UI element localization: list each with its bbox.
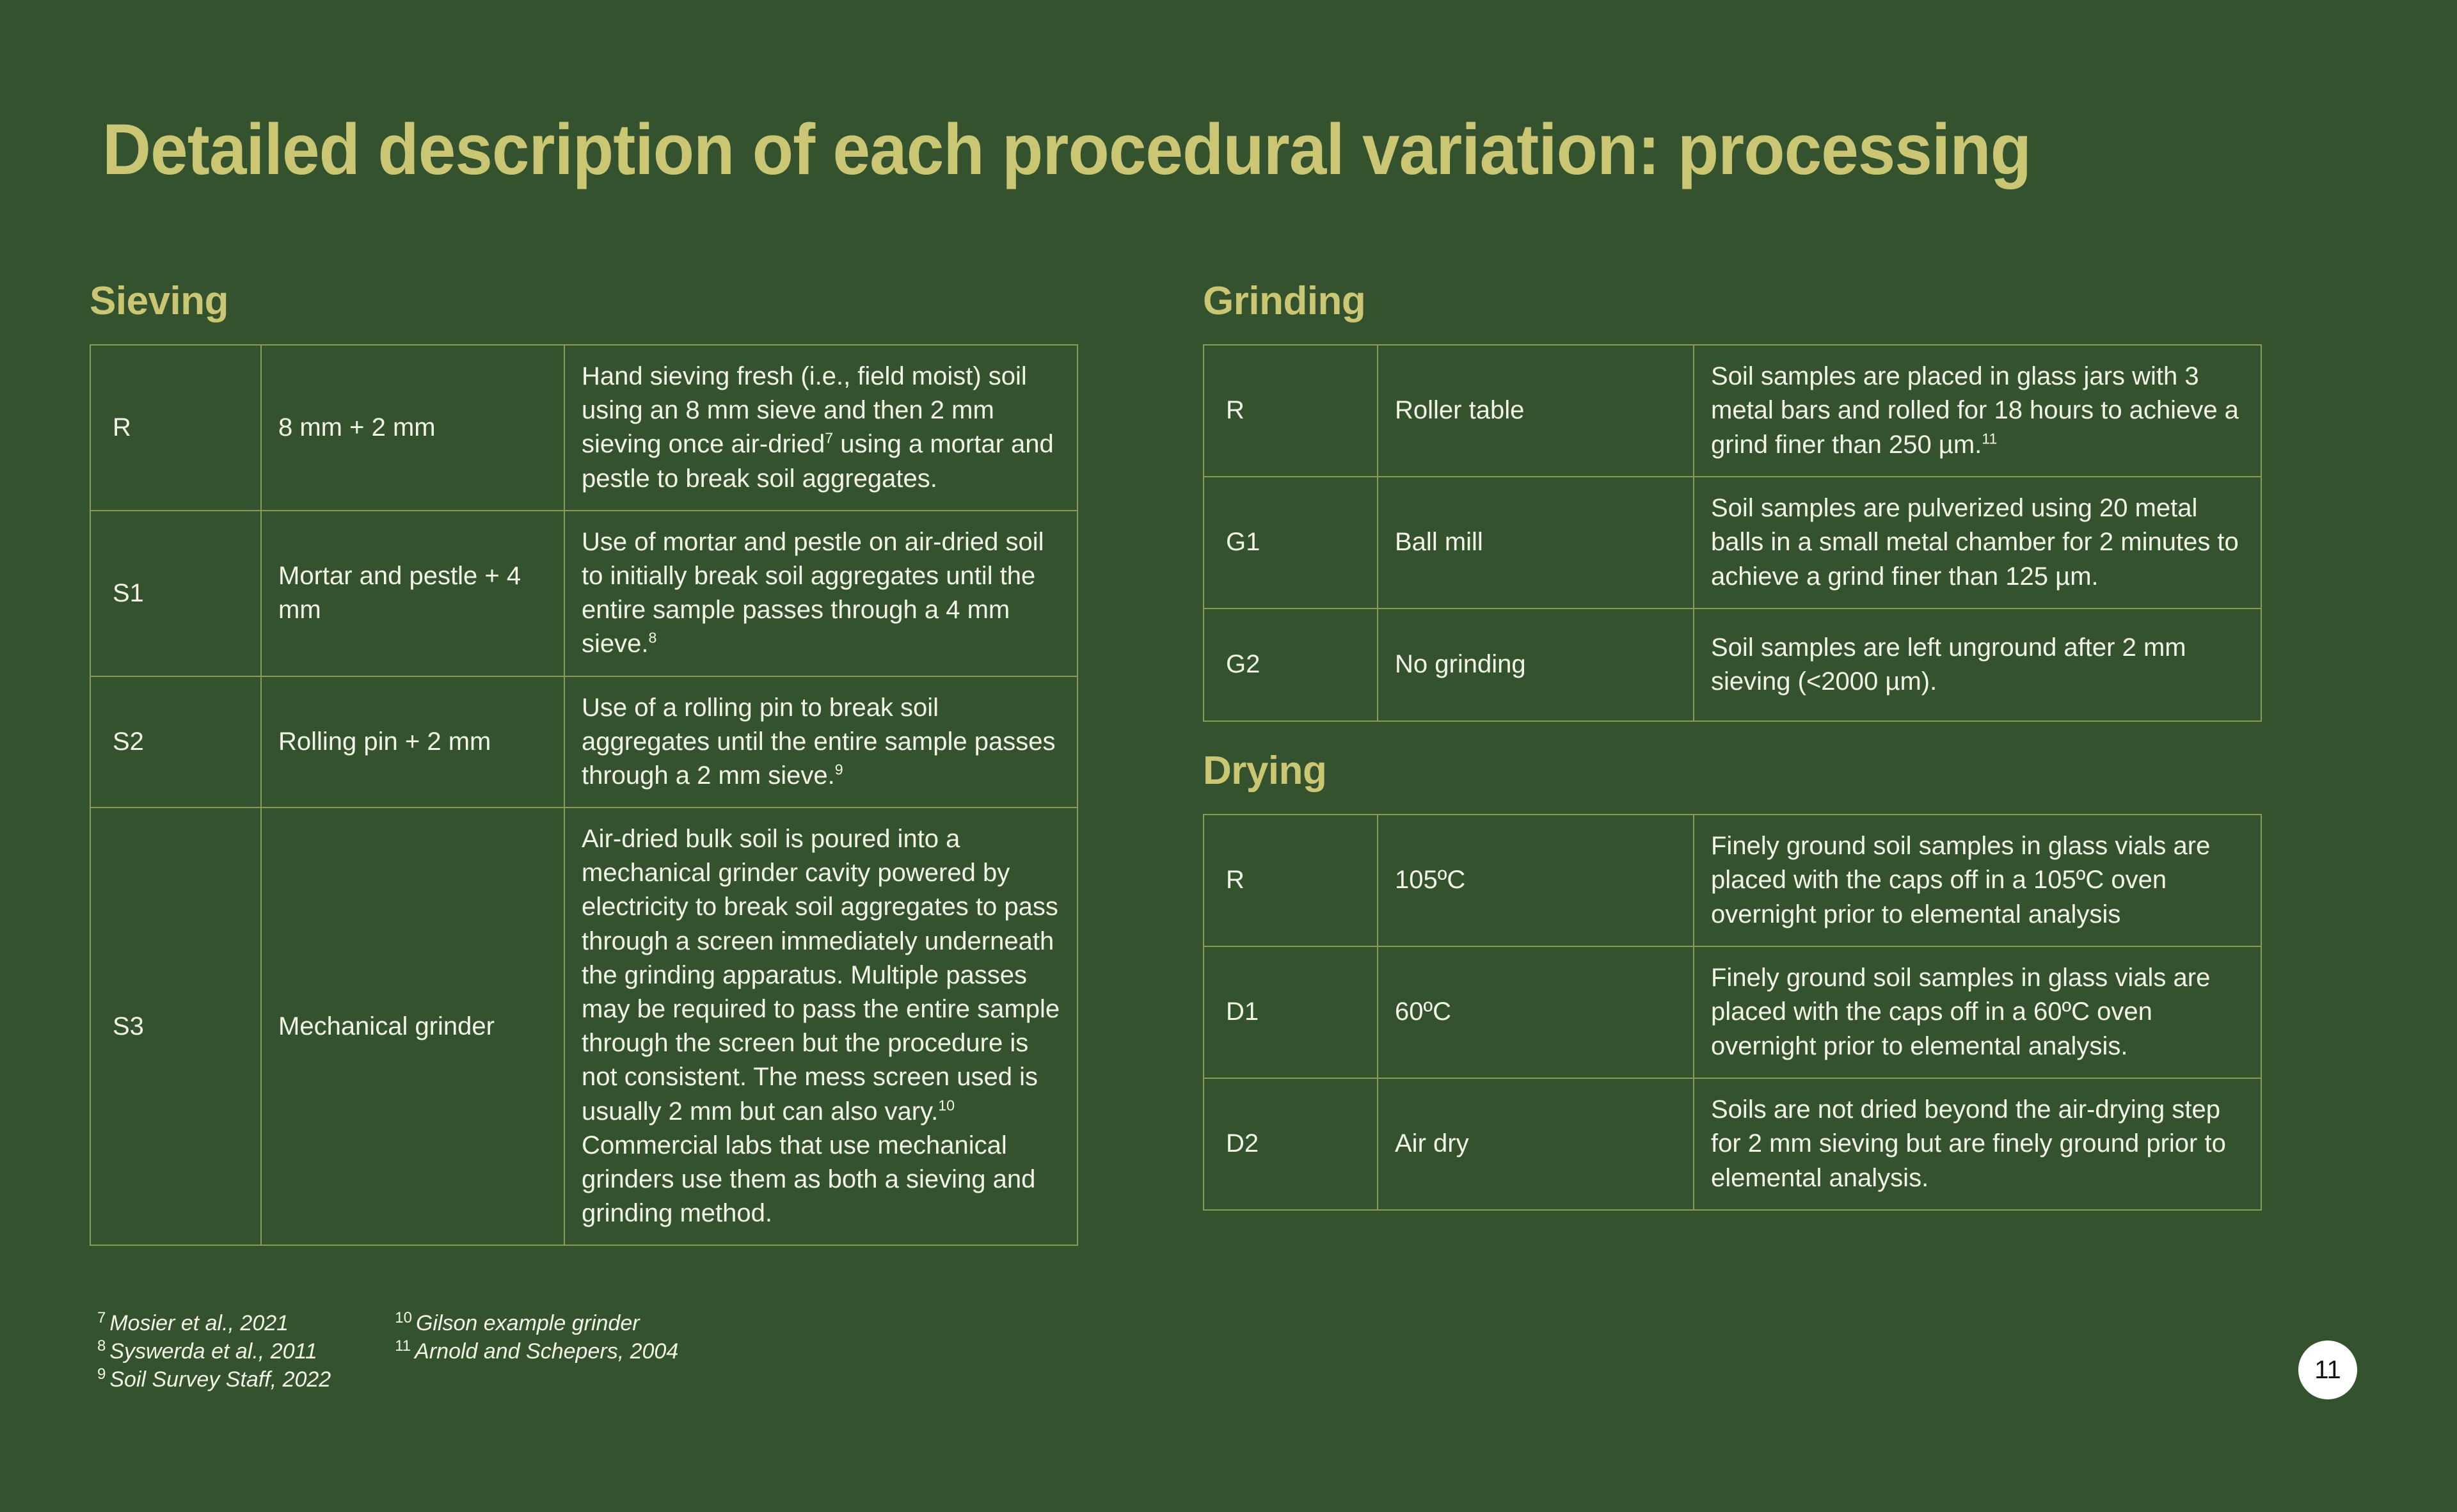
footnote-number: 11 xyxy=(395,1337,411,1355)
row-name: Mechanical grinder xyxy=(261,808,564,1245)
description-text: Air-dried bulk soil is poured into a mec… xyxy=(582,825,1060,1126)
footnote-marker: 11 xyxy=(1982,430,1997,447)
row-name: No grinding xyxy=(1378,609,1694,721)
row-description: Finely ground soil samples in glass vial… xyxy=(1694,946,2261,1078)
table-row: G1 Ball mill Soil samples are pulverized… xyxy=(1204,477,2261,609)
footnote-number: 9 xyxy=(97,1365,106,1383)
footnote-text: Mosier et al., 2021 xyxy=(109,1311,289,1335)
footnote-column-two: 10Gilson example grinder 11Arnold and Sc… xyxy=(395,1309,678,1394)
table-row: R Roller table Soil samples are placed i… xyxy=(1204,345,2261,477)
footnote-item: 10Gilson example grinder xyxy=(395,1309,678,1337)
column-right: Grinding R Roller table Soil samples are… xyxy=(1203,282,2262,1211)
footnote-number: 10 xyxy=(395,1309,412,1326)
row-description: Soil samples are placed in glass jars wi… xyxy=(1694,345,2261,477)
footnote-marker: 10 xyxy=(938,1097,955,1113)
table-row: D2 Air dry Soils are not dried beyond th… xyxy=(1204,1078,2261,1210)
section-heading-drying: Drying xyxy=(1203,751,2262,791)
row-name: Mortar and pestle + 4 mm xyxy=(261,511,564,676)
sieving-table: R 8 mm + 2 mm Hand sieving fresh (i.e., … xyxy=(90,344,1078,1246)
row-description: Use of a rolling pin to break soil aggre… xyxy=(564,676,1077,808)
row-code: R xyxy=(90,345,261,511)
section-heading-sieving: Sieving xyxy=(90,282,1078,321)
description-text: Finely ground soil samples in glass vial… xyxy=(1711,964,2210,1060)
row-name: 8 mm + 2 mm xyxy=(261,345,564,511)
row-code: R xyxy=(1204,345,1378,477)
footnote-text: Gilson example grinder xyxy=(416,1311,640,1335)
row-code: S1 xyxy=(90,511,261,676)
drying-table: R 105ºC Finely ground soil samples in gl… xyxy=(1203,814,2262,1211)
footnote-item: 7Mosier et al., 2021 xyxy=(97,1309,331,1337)
row-description: Soil samples are left unground after 2 m… xyxy=(1694,609,2261,721)
row-description: Soils are not dried beyond the air-dryin… xyxy=(1694,1078,2261,1210)
footnote-item: 11Arnold and Schepers, 2004 xyxy=(395,1337,678,1365)
footnote-text: Soil Survey Staff, 2022 xyxy=(109,1367,331,1392)
row-name: 105ºC xyxy=(1378,815,1694,946)
footnote-item: 9Soil Survey Staff, 2022 xyxy=(97,1365,331,1394)
description-text: Finely ground soil samples in glass vial… xyxy=(1711,832,2210,928)
footnote-number: 8 xyxy=(97,1337,106,1355)
footnote-item: 8Syswerda et al., 2011 xyxy=(97,1337,331,1365)
footnote-marker: 8 xyxy=(649,630,657,646)
description-text: Use of a rolling pin to break soil aggre… xyxy=(582,694,1055,790)
row-code: S3 xyxy=(90,808,261,1245)
row-code: S2 xyxy=(90,676,261,808)
row-name: Roller table xyxy=(1378,345,1694,477)
row-description: Air-dried bulk soil is poured into a mec… xyxy=(564,808,1077,1245)
row-code: G2 xyxy=(1204,609,1378,721)
row-name: 60ºC xyxy=(1378,946,1694,1078)
row-description: Finely ground soil samples in glass vial… xyxy=(1694,815,2261,946)
description-text-post: Commercial labs that use mechanical grin… xyxy=(582,1131,1035,1227)
column-left: Sieving R 8 mm + 2 mm Hand sieving fresh… xyxy=(90,282,1078,1246)
footnote-number: 7 xyxy=(97,1309,106,1326)
description-text: Soil samples are placed in glass jars wi… xyxy=(1711,362,2239,458)
row-code: D2 xyxy=(1204,1078,1378,1210)
footnote-column-one: 7Mosier et al., 2021 8Syswerda et al., 2… xyxy=(97,1309,331,1394)
table-row: R 105ºC Finely ground soil samples in gl… xyxy=(1204,815,2261,946)
description-text: Soils are not dried beyond the air-dryin… xyxy=(1711,1095,2226,1191)
row-name: Rolling pin + 2 mm xyxy=(261,676,564,808)
content-columns: Sieving R 8 mm + 2 mm Hand sieving fresh… xyxy=(0,0,2457,1512)
row-code: G1 xyxy=(1204,477,1378,609)
table-row: R 8 mm + 2 mm Hand sieving fresh (i.e., … xyxy=(90,345,1077,511)
table-row: S2 Rolling pin + 2 mm Use of a rolling p… xyxy=(90,676,1077,808)
row-code: R xyxy=(1204,815,1378,946)
grinding-table: R Roller table Soil samples are placed i… xyxy=(1203,344,2262,722)
row-name: Air dry xyxy=(1378,1078,1694,1210)
description-text: Soil samples are left unground after 2 m… xyxy=(1711,633,2186,696)
footnotes: 7Mosier et al., 2021 8Syswerda et al., 2… xyxy=(97,1309,678,1394)
footnote-text: Arnold and Schepers, 2004 xyxy=(415,1339,678,1364)
footnote-marker: 9 xyxy=(835,761,843,778)
footnote-text: Syswerda et al., 2011 xyxy=(109,1339,317,1364)
row-description: Use of mortar and pestle on air-dried so… xyxy=(564,511,1077,676)
table-row: G2 No grinding Soil samples are left ung… xyxy=(1204,609,2261,721)
table-row: S3 Mechanical grinder Air-dried bulk soi… xyxy=(90,808,1077,1245)
row-code: D1 xyxy=(1204,946,1378,1078)
description-text: Soil samples are pulverized using 20 met… xyxy=(1711,494,2239,590)
row-description: Hand sieving fresh (i.e., field moist) s… xyxy=(564,345,1077,511)
page-number-badge: 11 xyxy=(2298,1341,2357,1399)
table-row: S1 Mortar and pestle + 4 mm Use of morta… xyxy=(90,511,1077,676)
row-name: Ball mill xyxy=(1378,477,1694,609)
table-row: D1 60ºC Finely ground soil samples in gl… xyxy=(1204,946,2261,1078)
footnote-marker: 7 xyxy=(825,430,833,447)
section-heading-grinding: Grinding xyxy=(1203,282,2262,321)
row-description: Soil samples are pulverized using 20 met… xyxy=(1694,477,2261,609)
